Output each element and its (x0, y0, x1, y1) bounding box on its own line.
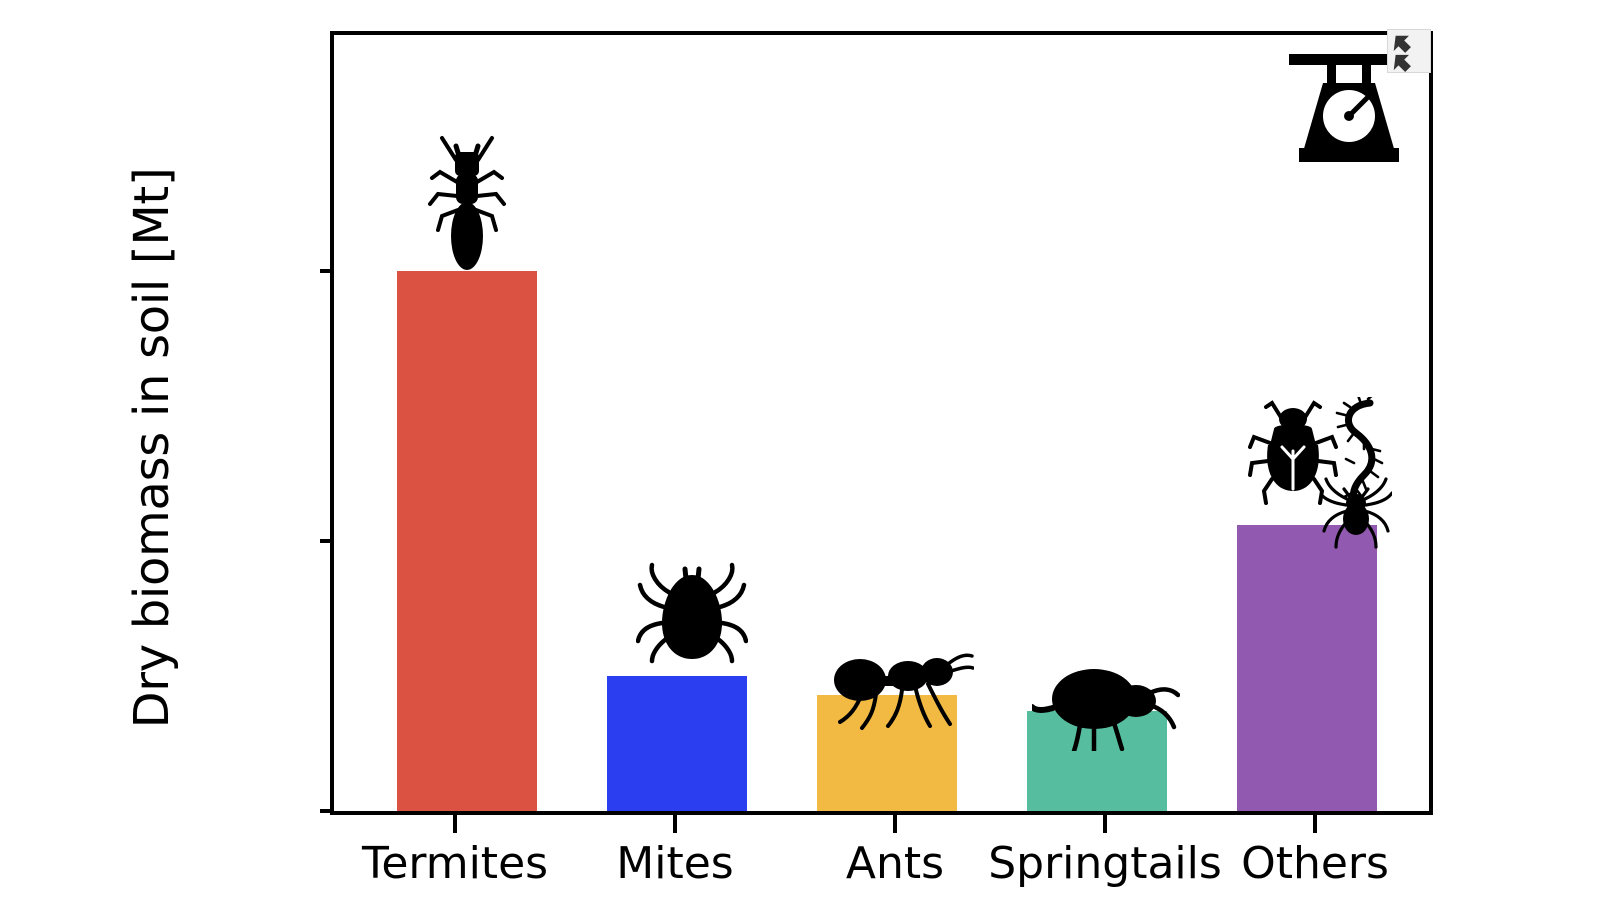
bar-chart-figure: Dry biomass in soil [Mt] 0 50 100 Termit… (0, 0, 1600, 906)
x-tick-mark-mites (673, 815, 677, 833)
x-tick-mark-ants (893, 815, 897, 833)
x-tick-mark-springtails (1103, 815, 1107, 833)
bar-termites[interactable] (397, 271, 537, 811)
x-tick-mark-termites (453, 815, 457, 833)
x-tick-label-termites: Termites (362, 838, 548, 889)
y-tick-mark-50 (320, 539, 334, 543)
termite-icon (426, 132, 508, 272)
spider-icon (1320, 477, 1392, 549)
bar-others[interactable] (1237, 525, 1377, 811)
x-tick-mark-others (1313, 815, 1317, 833)
y-tick-mark-100 (320, 269, 334, 273)
mite-icon (636, 557, 748, 665)
resize-arrows-icon (1388, 30, 1430, 72)
resize-handle-icon[interactable] (1387, 29, 1431, 73)
bar-mites[interactable] (607, 676, 747, 811)
x-tick-label-springtails: Springtails (988, 838, 1222, 889)
x-tick-label-others: Others (1241, 838, 1389, 889)
plot-area (330, 31, 1433, 815)
y-axis-label: Dry biomass in soil [Mt] (124, 48, 180, 848)
springtail-icon (1032, 655, 1180, 751)
x-tick-label-mites: Mites (616, 838, 733, 889)
x-tick-label-ants: Ants (846, 838, 944, 889)
ant-icon (832, 646, 974, 736)
y-tick-mark-0 (320, 809, 334, 813)
